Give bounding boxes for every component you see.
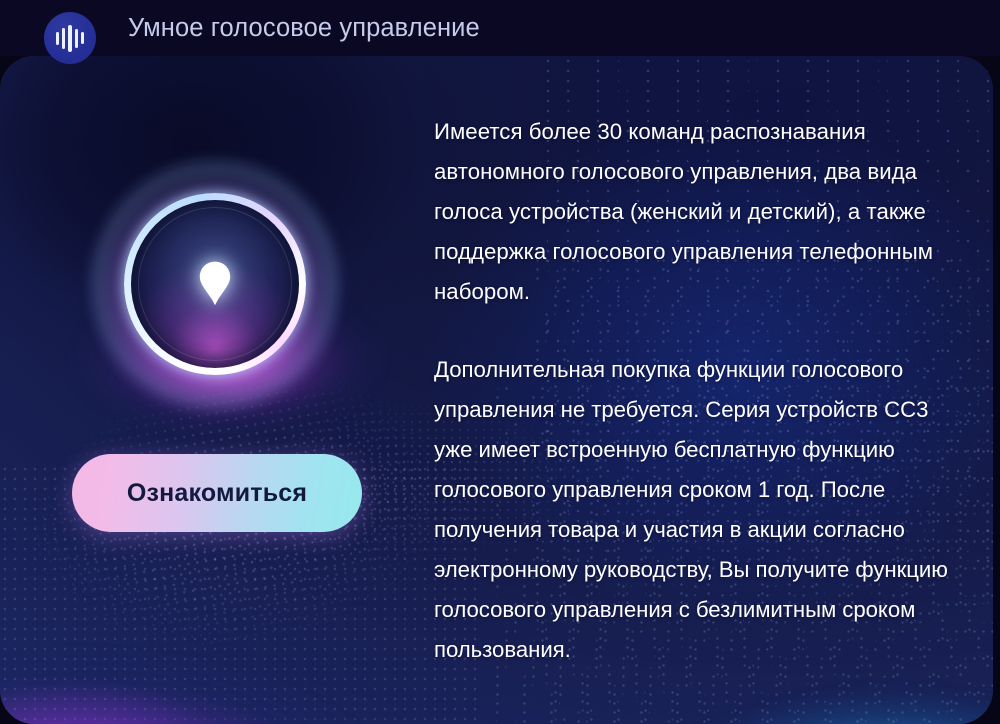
waveform-bar-3 bbox=[68, 25, 71, 52]
description-paragraph: Дополнительная покупка функции голосовог… bbox=[434, 350, 958, 670]
header-bar: Умное голосовое управление bbox=[0, 0, 1000, 56]
waveform-bar-2 bbox=[62, 28, 65, 49]
learn-more-button[interactable]: Ознакомиться bbox=[72, 454, 362, 532]
waveform-bar-5 bbox=[81, 32, 84, 44]
waveform-bar-1 bbox=[56, 32, 59, 45]
description-paragraph: Имеется более 30 команд распознавания ав… bbox=[434, 112, 958, 312]
waveform-bar-4 bbox=[75, 29, 78, 48]
voice-assistant-orb-icon bbox=[124, 193, 306, 375]
teardrop-pin-icon bbox=[198, 260, 232, 306]
hero-column: Ознакомиться bbox=[0, 56, 430, 724]
slide-canvas: Умное голосовое управление Ознакомиться … bbox=[0, 0, 1000, 724]
description-column: Имеется более 30 команд распознавания ав… bbox=[434, 56, 964, 724]
voice-waveform-icon bbox=[44, 12, 96, 64]
description-text-block: Имеется более 30 команд распознавания ав… bbox=[434, 112, 958, 670]
page-title: Умное голосовое управление bbox=[128, 0, 480, 56]
